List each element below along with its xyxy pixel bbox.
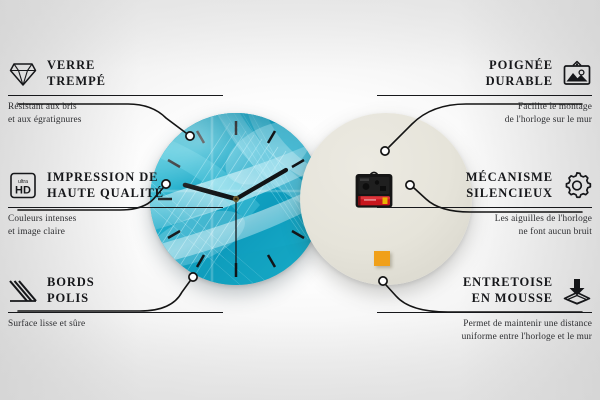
ultra-hd-badge-icon: ultra HD bbox=[8, 171, 38, 201]
feature-divider bbox=[8, 95, 223, 97]
feature-subtitle: Les aiguilles de l'horloge ne font aucun… bbox=[377, 213, 592, 239]
diamond-icon bbox=[8, 59, 38, 89]
feature-header: ENTRETOISE EN MOUSSE bbox=[377, 275, 592, 307]
connector-dot-verre-trempe bbox=[186, 132, 194, 140]
feature-header: POIGNÉE DURABLE bbox=[377, 58, 592, 90]
feature-title: IMPRESSION DE HAUTE QUALITÉ bbox=[47, 170, 164, 202]
polished-edge-stripes-icon bbox=[8, 276, 38, 306]
feature-header: BORDS POLIS bbox=[8, 275, 223, 307]
feature-entretoise-en-mousse: ENTRETOISE EN MOUSSE Permet de maintenir… bbox=[377, 275, 592, 344]
infographic-canvas: VERRE TREMPÉ Résistant aux bris et aux é… bbox=[0, 0, 600, 400]
picture-hanger-icon bbox=[562, 59, 592, 89]
feature-bords-polis: BORDS POLIS Surface lisse et sûre bbox=[8, 275, 223, 331]
feature-header: MÉCANISME SILENCIEUX bbox=[377, 170, 592, 202]
feature-title: ENTRETOISE EN MOUSSE bbox=[463, 275, 553, 307]
feature-poignee-durable: POIGNÉE DURABLE Facilite le montage de l… bbox=[377, 58, 592, 127]
feature-divider bbox=[8, 207, 223, 209]
feature-title: VERRE TREMPÉ bbox=[47, 58, 106, 90]
feature-divider bbox=[377, 312, 592, 314]
feature-mecanisme-silencieux: MÉCANISME SILENCIEUX Les aiguilles de l'… bbox=[377, 170, 592, 239]
feature-impression-haute-qualite: ultra HD IMPRESSION DE HAUTE QUALITÉ Cou… bbox=[8, 170, 223, 239]
feature-divider bbox=[377, 95, 592, 97]
feature-verre-trempe: VERRE TREMPÉ Résistant aux bris et aux é… bbox=[8, 58, 223, 127]
feature-header: VERRE TREMPÉ bbox=[8, 58, 223, 90]
feature-title: MÉCANISME SILENCIEUX bbox=[466, 170, 553, 202]
feature-divider bbox=[377, 207, 592, 209]
feature-header: ultra HD IMPRESSION DE HAUTE QUALITÉ bbox=[8, 170, 223, 202]
feature-subtitle: Facilite le montage de l'horloge sur le … bbox=[377, 101, 592, 127]
svg-text:HD: HD bbox=[15, 185, 31, 197]
feature-title: POIGNÉE DURABLE bbox=[486, 58, 553, 90]
feature-subtitle: Permet de maintenir une distance uniform… bbox=[377, 318, 592, 344]
feature-subtitle: Surface lisse et sûre bbox=[8, 318, 223, 331]
connector-dot-poignee bbox=[381, 147, 389, 155]
foam-spacer-arrow-icon bbox=[562, 276, 592, 306]
feature-title: BORDS POLIS bbox=[47, 275, 95, 307]
gear-icon bbox=[562, 171, 592, 201]
feature-subtitle: Couleurs intenses et image claire bbox=[8, 213, 223, 239]
feature-subtitle: Résistant aux bris et aux égratignures bbox=[8, 101, 223, 127]
feature-divider bbox=[8, 312, 223, 314]
